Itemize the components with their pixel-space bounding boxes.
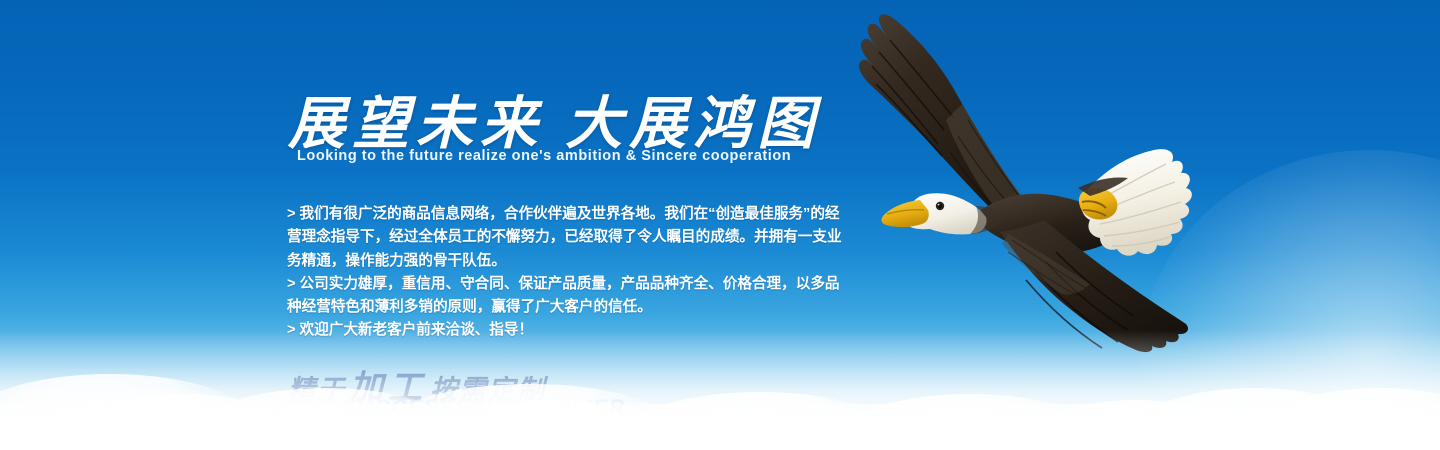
page-subtitle: Looking to the future realize one's ambi…	[297, 148, 791, 164]
cloud-bank	[0, 330, 1440, 450]
paragraph-text: 公司实力雄厚，重信用、守合同、保证产品质量，产品品种齐全、价格合理，以多品种经营…	[287, 276, 840, 315]
company-banner: 展望未来 大展鸿图 Looking to the future realize …	[0, 0, 1440, 450]
body-copy: >我们有很广泛的商品信息网络，合作伙伴遍及世界各地。我们在“创造最佳服务”的经营…	[287, 203, 850, 343]
horizon-haze	[0, 404, 1440, 450]
paragraph-text: 我们有很广泛的商品信息网络，合作伙伴遍及世界各地。我们在“创造最佳服务”的经营理…	[287, 206, 842, 269]
body-paragraph: >我们有很广泛的商品信息网络，合作伙伴遍及世界各地。我们在“创造最佳服务”的经营…	[287, 203, 850, 273]
bullet-marker: >	[287, 322, 296, 338]
slogan-english: THE SUCCESSFUL SUPPLIER	[288, 396, 625, 420]
cloud-puff	[620, 392, 900, 450]
body-paragraph: >公司实力雄厚，重信用、守合同、保证产品质量，产品品种齐全、价格合理，以多品种经…	[287, 273, 850, 320]
cloud-puff	[80, 394, 290, 450]
paragraph-text: 欢迎广大新老客户前来洽谈、指导！	[300, 322, 534, 338]
bullet-marker: >	[287, 276, 296, 292]
cloud-puff	[1130, 388, 1380, 450]
cloud-puff	[1270, 388, 1440, 450]
bald-eagle-illustration	[850, 0, 1210, 380]
cloud-puff	[840, 394, 1100, 450]
cloud-puff	[0, 374, 260, 450]
cloud-puff	[1040, 400, 1230, 450]
bullet-marker: >	[287, 206, 296, 222]
body-paragraph: >欢迎广大新老客户前来洽谈、指导！	[287, 319, 850, 342]
eagle-upper-wing	[859, 14, 1026, 220]
